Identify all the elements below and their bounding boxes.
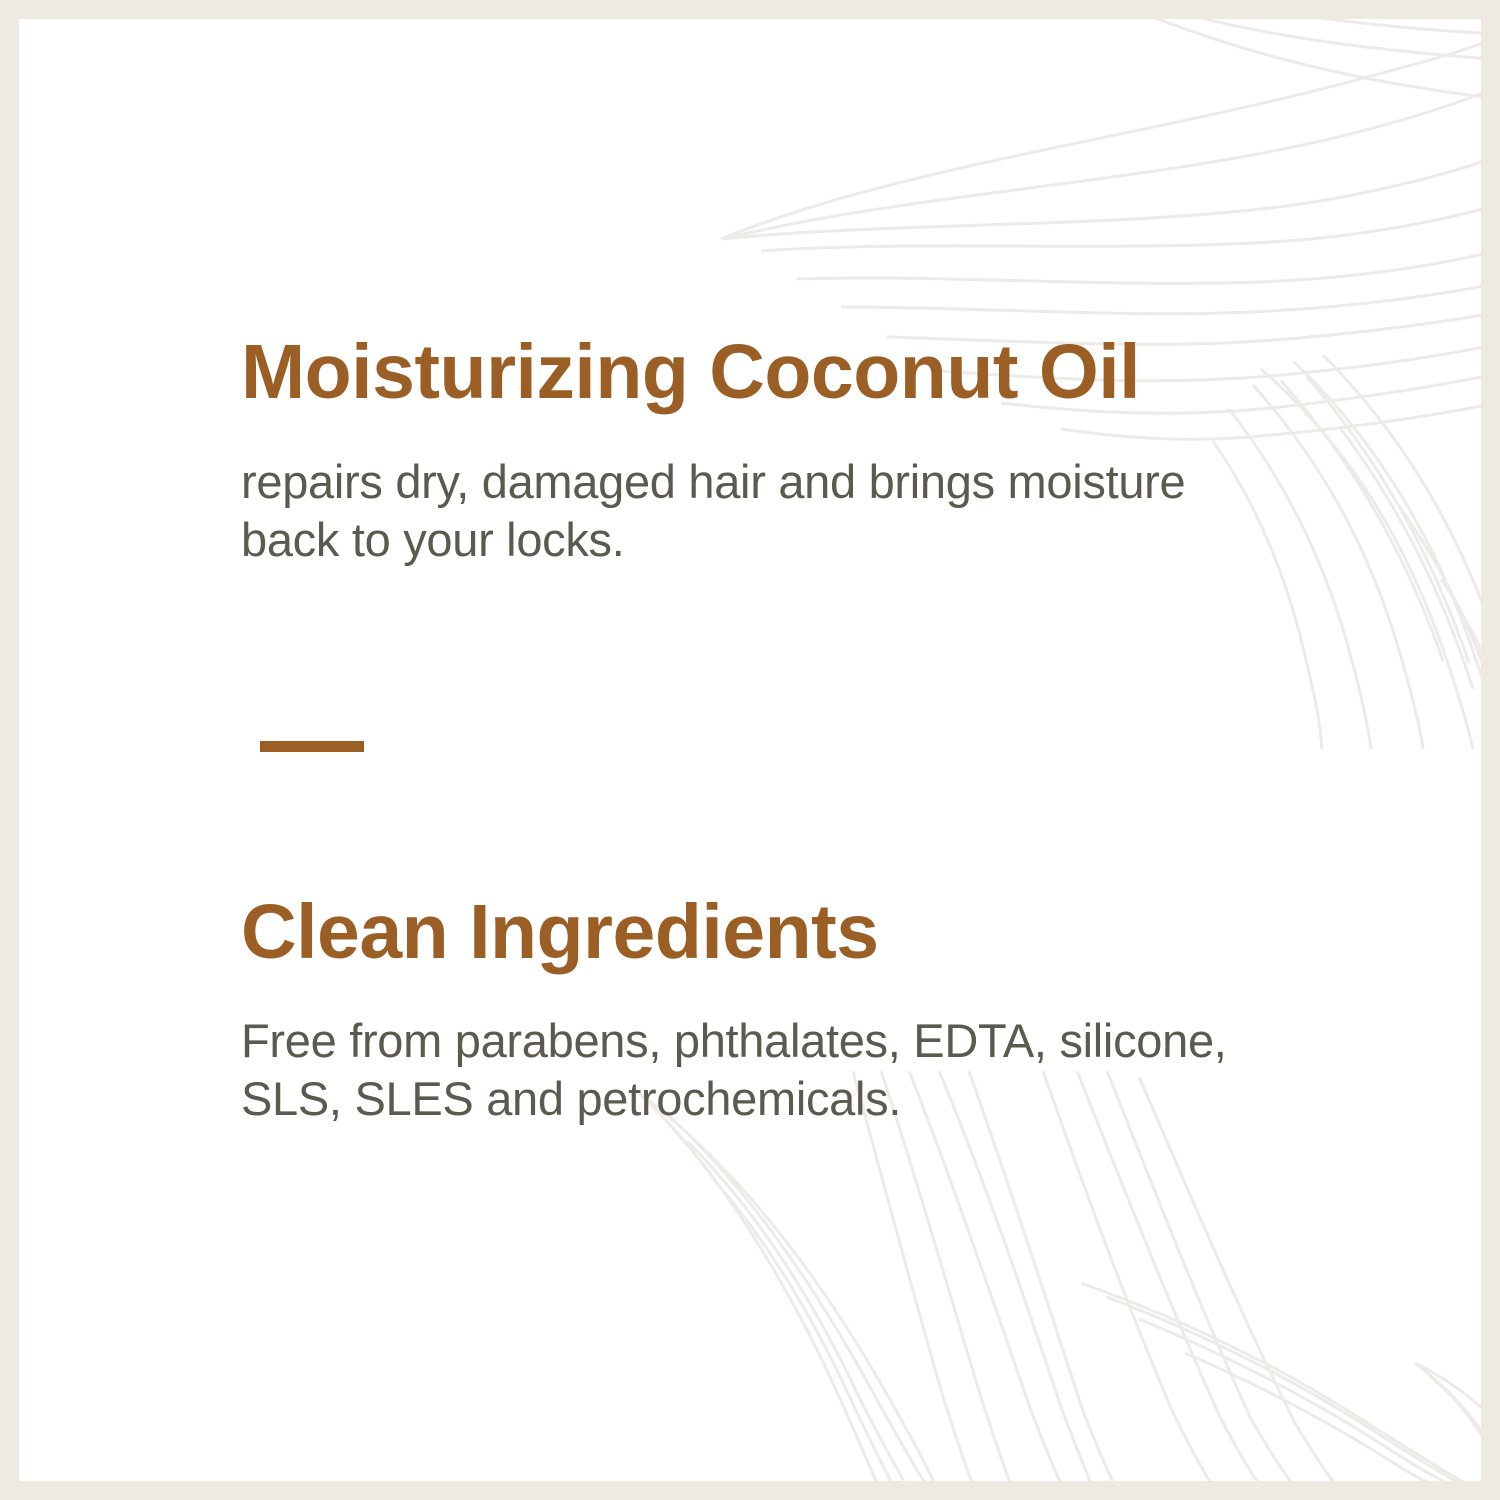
- heading-spacer: [241, 412, 1221, 453]
- section-heading-clean-ingredients: Clean Ingredients: [241, 893, 1241, 972]
- section-body-moisturizing-coconut-oil: repairs dry, damaged hair and brings moi…: [241, 453, 1221, 569]
- benefit-block-clean-ingredients: Clean Ingredients Free from parabens, ph…: [241, 893, 1241, 1128]
- content-column: Moisturizing Coconut Oil repairs dry, da…: [241, 19, 1251, 1481]
- section-heading-moisturizing-coconut-oil: Moisturizing Coconut Oil: [241, 333, 1221, 412]
- benefit-block-moisturizing-coconut-oil: Moisturizing Coconut Oil repairs dry, da…: [241, 333, 1221, 569]
- banner-canvas: Moisturizing Coconut Oil repairs dry, da…: [19, 19, 1481, 1481]
- infographic-banner: Moisturizing Coconut Oil repairs dry, da…: [0, 0, 1500, 1500]
- accent-rule-divider: [260, 741, 364, 752]
- heading-spacer: [241, 972, 1241, 1012]
- section-body-clean-ingredients: Free from parabens, phthalates, EDTA, si…: [241, 1012, 1241, 1128]
